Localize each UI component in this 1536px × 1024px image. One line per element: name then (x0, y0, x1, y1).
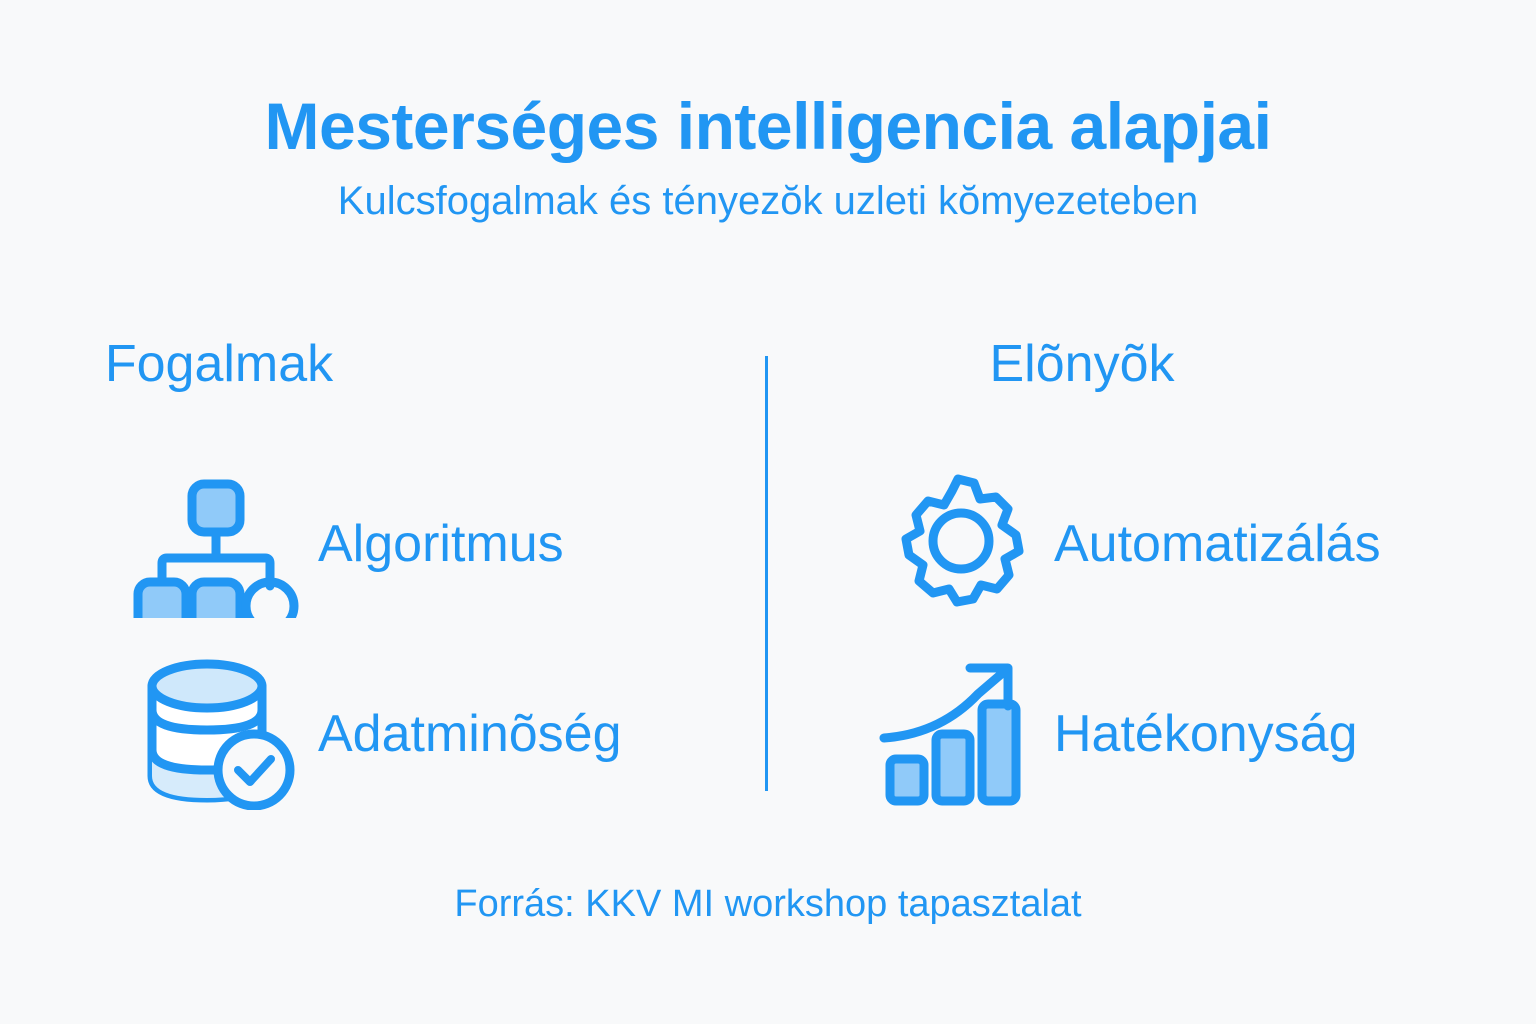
page-subtitle: Kulcsfogalmak és tényezŏk uzleti kŏmyeze… (0, 179, 1536, 223)
list-item-automatizalas[interactable]: Automatizálás (848, 468, 1536, 620)
column-heading-left: Fogalmak (30, 338, 768, 390)
gear-icon (878, 468, 1038, 620)
list-item-algoritmus[interactable]: Algoritmus (30, 468, 768, 620)
list-item-label: Algoritmus (318, 518, 564, 570)
growth-bar-chart-icon (878, 658, 1038, 810)
column-divider (765, 356, 768, 791)
header: Mesterséges intelligencia alapjai Kulcsf… (0, 92, 1536, 223)
slide-root: Mesterséges intelligencia alapjai Kulcsf… (0, 0, 1536, 1024)
column-elonyok: Elõnyõk Automatizálás (768, 338, 1536, 848)
list-item-label: Hatékonyság (1054, 708, 1358, 760)
page-title: Mesterséges intelligencia alapjai (0, 92, 1536, 161)
list-item-hatekonysag[interactable]: Hatékonyság (848, 658, 1536, 810)
list-item-label: Adatminõség (318, 708, 622, 760)
hierarchy-icon (130, 468, 302, 620)
list-item-label: Automatizálás (1054, 518, 1381, 570)
footer: Forrás: KKV MI workshop tapasztalat (0, 885, 1536, 923)
database-check-icon (130, 658, 302, 810)
columns-container: Fogalmak (0, 338, 1536, 808)
column-fogalmak: Fogalmak (0, 338, 768, 848)
column-heading-right: Elõnyõk (848, 338, 1536, 390)
source-text: Forrás: KKV MI workshop tapasztalat (454, 883, 1081, 925)
list-item-adatminoseg[interactable]: Adatminõség (30, 658, 768, 810)
